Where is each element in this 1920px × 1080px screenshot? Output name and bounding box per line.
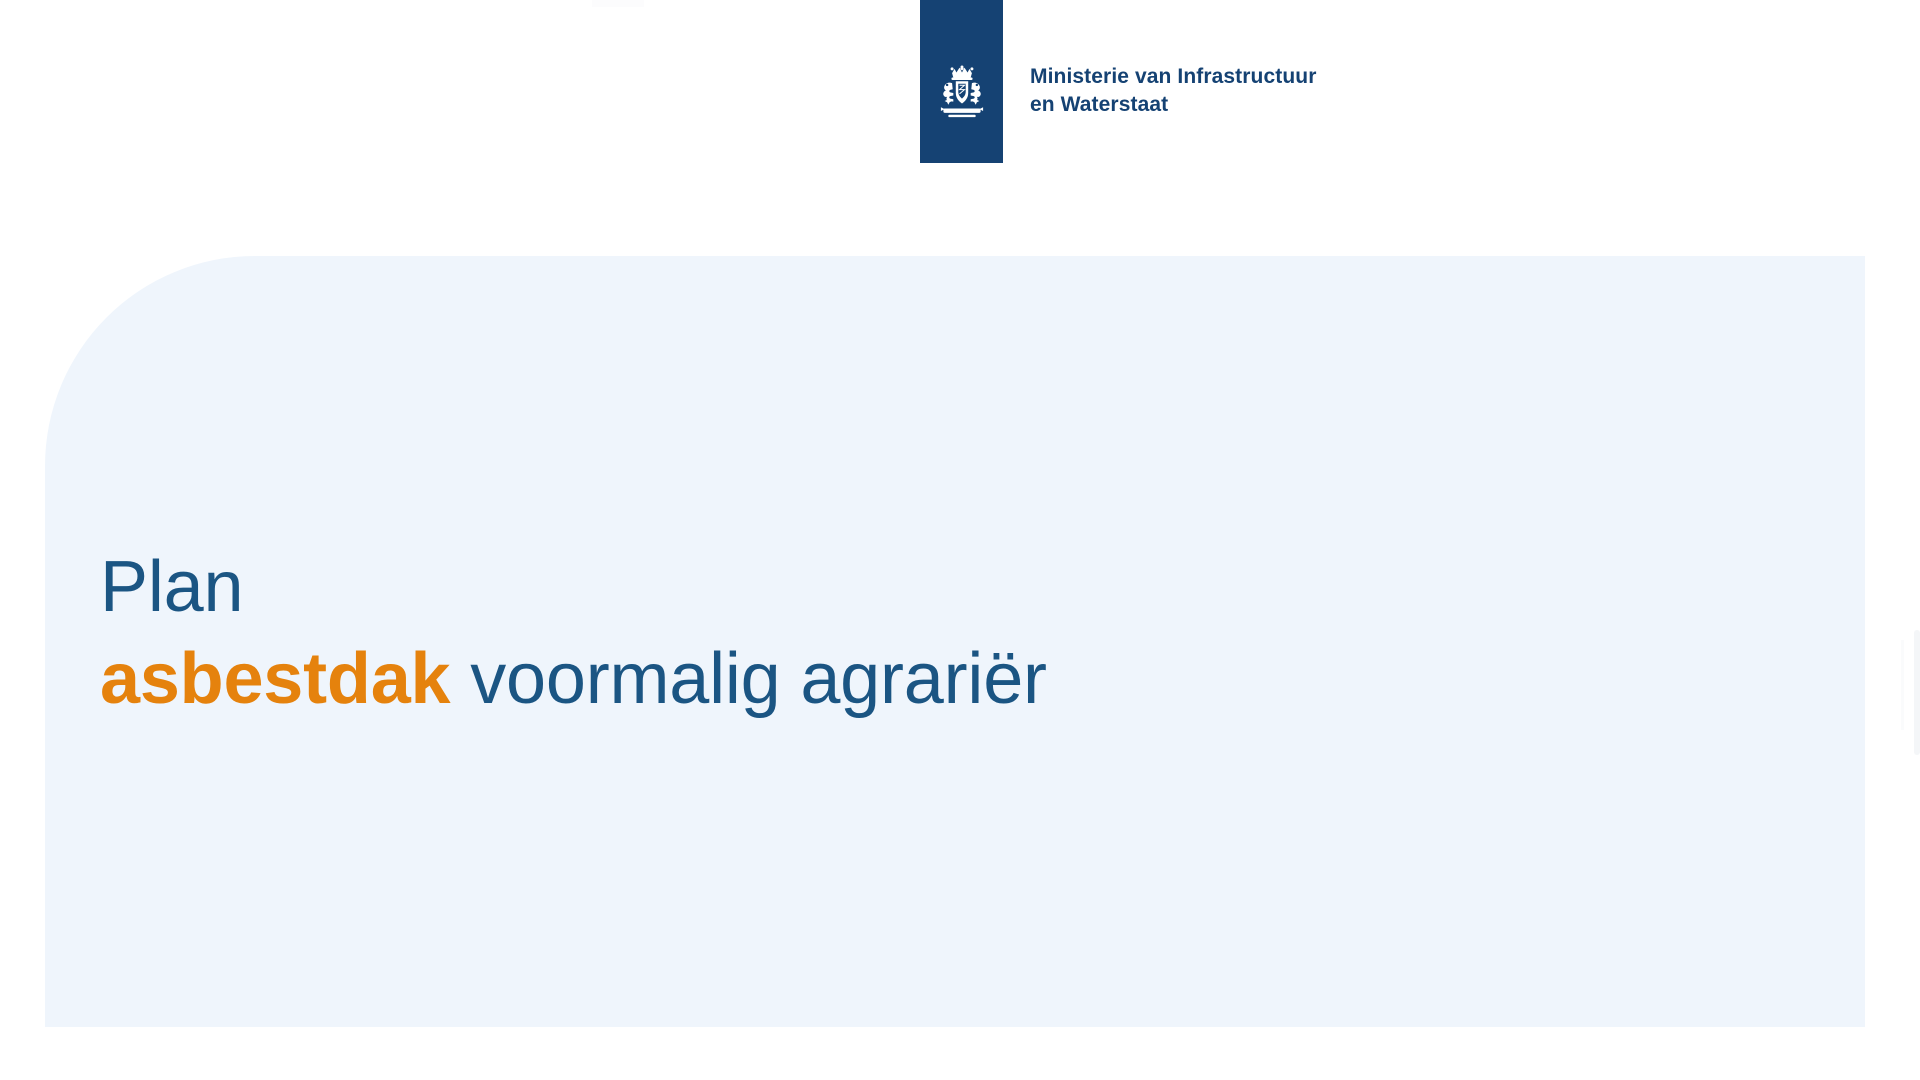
top-edge-artifact bbox=[592, 0, 644, 7]
logo-blue-bar bbox=[920, 0, 1003, 163]
page-title-accent-word: asbestdak bbox=[100, 639, 450, 719]
edge-tick-artifact bbox=[1901, 640, 1904, 730]
page-title-line2: asbestdak voormalig agrariër bbox=[100, 633, 1047, 725]
page-scrollbar[interactable] bbox=[1914, 630, 1920, 755]
page-title: Plan asbestdak voormalig agrariër bbox=[100, 541, 1047, 725]
logo-text-line2: en Waterstaat bbox=[1030, 91, 1316, 119]
logo-text: Ministerie van Infrastructuur en Waterst… bbox=[1030, 63, 1316, 119]
hero-card: Plan asbestdak voormalig agrariër bbox=[45, 256, 1865, 1027]
logo-text-line1: Ministerie van Infrastructuur bbox=[1030, 63, 1316, 91]
page-title-rest: voormalig agrariër bbox=[450, 639, 1046, 719]
page-title-line1: Plan bbox=[100, 541, 1047, 633]
dutch-coat-of-arms-icon bbox=[931, 62, 993, 124]
rijksoverheid-logo: Ministerie van Infrastructuur en Waterst… bbox=[920, 0, 1316, 163]
